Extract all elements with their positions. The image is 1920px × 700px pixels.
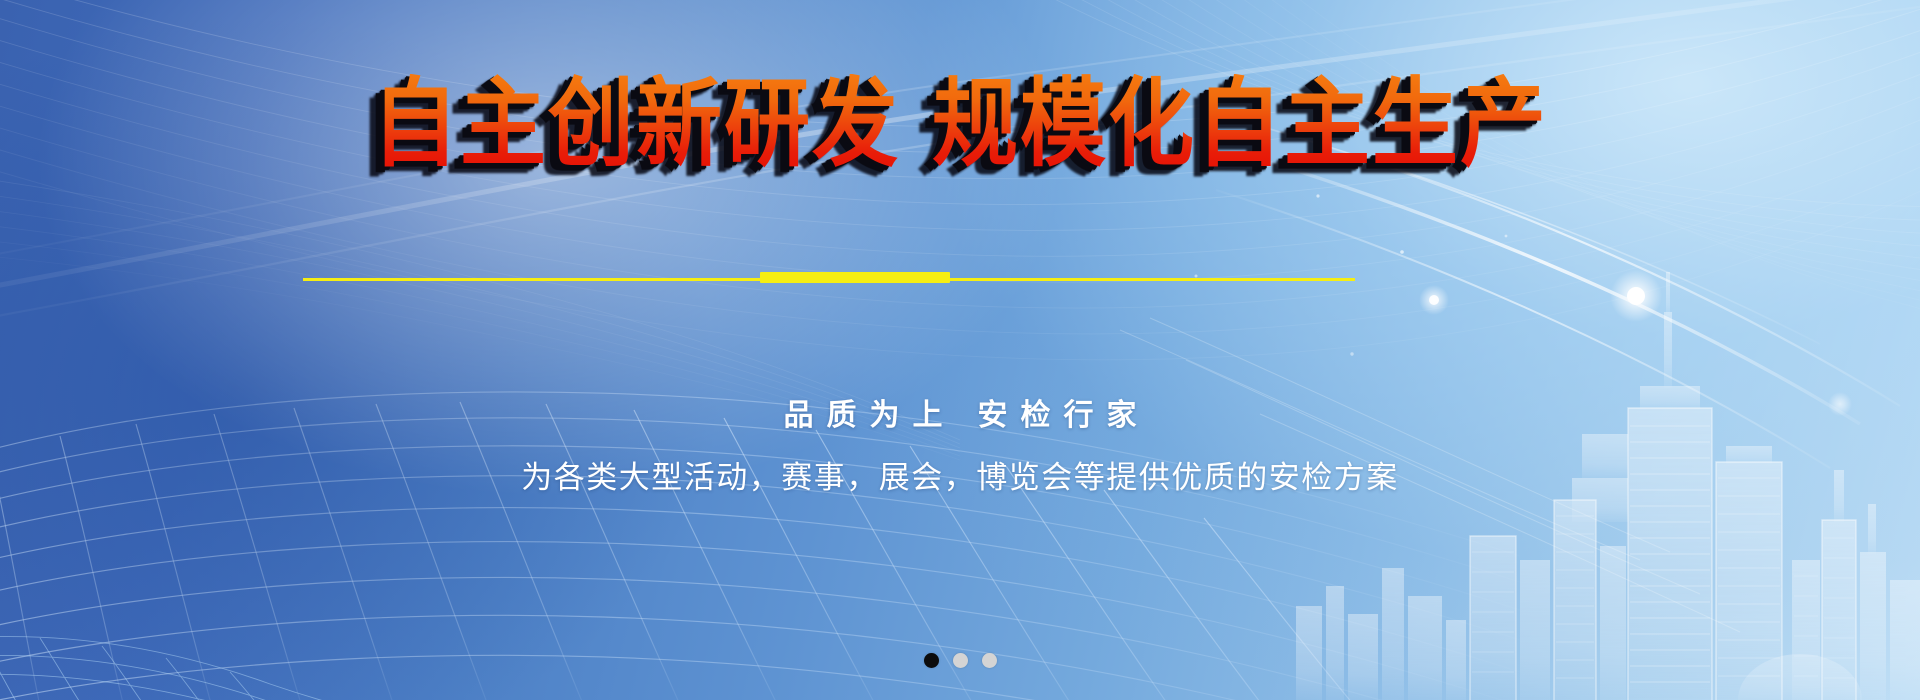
hero-banner: 自主创新研发 规模化自主生产 品质为上安检行家 为各类大型活动，赛事，展会，博览… xyxy=(0,0,1920,700)
carousel-dot-3[interactable] xyxy=(982,653,997,668)
subtitle-primary-right: 安检行家 xyxy=(978,398,1150,433)
carousel-pagination[interactable] xyxy=(0,653,1920,668)
subtitle-primary-left: 品质为上 xyxy=(784,398,956,433)
divider-accent-block xyxy=(760,272,950,283)
carousel-dot-2[interactable] xyxy=(953,653,968,668)
banner-subtitle-secondary: 为各类大型活动，赛事，展会，博览会等提供优质的安检方案 xyxy=(0,452,1920,497)
mesh-sparkle-edge xyxy=(0,636,460,700)
banner-subtitle-primary: 品质为上安检行家 xyxy=(0,390,1920,434)
carousel-dot-1[interactable] xyxy=(924,653,939,668)
headline-container: 自主创新研发 规模化自主生产 xyxy=(0,74,1920,164)
banner-headline: 自主创新研发 规模化自主生产 xyxy=(372,74,1548,175)
